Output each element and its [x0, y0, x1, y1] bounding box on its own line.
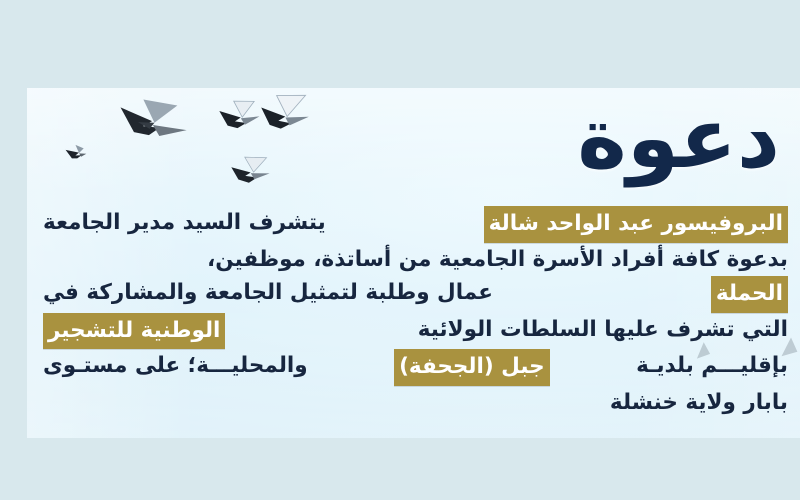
- invitation-line: التي تشرف عليها السلطات الولائيةالوطنية …: [43, 313, 788, 350]
- text-segment: والمحليـــة؛ على مستـوى: [43, 349, 308, 386]
- title-row: دعوة: [27, 93, 800, 191]
- invitation-line: بابار ولاية خنشلة: [43, 386, 788, 420]
- highlighted-phrase: البروفيسور عبد الواحد شالة: [484, 206, 788, 243]
- page-title: دعوة: [577, 89, 780, 187]
- text-segment: بدعوة كافة أفراد الأسرة الجامعية من أسات…: [207, 243, 788, 277]
- text-segment: عمال وطلبة لتمثيل الجامعة والمشاركة في: [43, 276, 493, 313]
- invitation-line: بدعوة كافة أفراد الأسرة الجامعية من أسات…: [43, 243, 788, 277]
- invitation-line: بإقليـــم بلديـةجبل (الجحفة)والمحليـــة؛…: [43, 349, 788, 386]
- highlighted-phrase: الوطنية للتشجير: [43, 313, 225, 350]
- highlighted-phrase: جبل (الجحفة): [394, 349, 550, 386]
- invitation-poster: دعوة البروفيسور عبد الواحد شالةيتشرف الس…: [0, 0, 800, 500]
- text-segment: التي تشرف عليها السلطات الولائية: [418, 313, 788, 350]
- invitation-line: الحملةعمال وطلبة لتمثيل الجامعة والمشارك…: [43, 276, 788, 313]
- text-segment: يتشرف السيد مدير الجامعة: [43, 206, 326, 243]
- poster-card: دعوة البروفيسور عبد الواحد شالةيتشرف الس…: [27, 88, 800, 438]
- invitation-line: البروفيسور عبد الواحد شالةيتشرف السيد مد…: [43, 206, 788, 243]
- text-segment: بإقليـــم بلديـة: [636, 349, 788, 386]
- invitation-body: البروفيسور عبد الواحد شالةيتشرف السيد مد…: [43, 206, 788, 419]
- text-segment: بابار ولاية خنشلة: [610, 386, 788, 420]
- highlighted-phrase: الحملة: [711, 276, 788, 313]
